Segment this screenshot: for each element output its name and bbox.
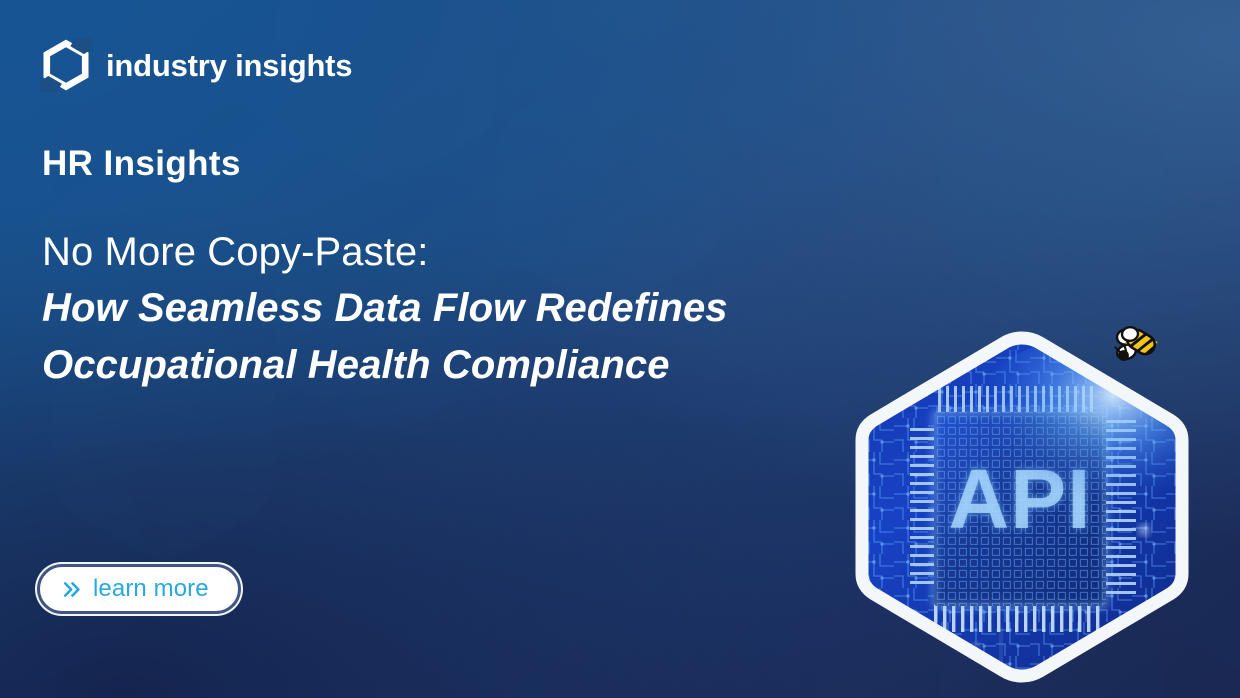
background-hexagon xyxy=(1163,0,1240,183)
headline-line-2: How Seamless Data Flow Redefines xyxy=(42,280,862,337)
background-hexagon xyxy=(941,67,1163,309)
headline-block: No More Copy-Paste: How Seamless Data Fl… xyxy=(42,231,862,394)
category-eyebrow: HR Insights xyxy=(42,145,241,184)
hero-hexagon-image: API API xyxy=(826,316,1218,698)
background-hexagon xyxy=(719,0,941,183)
banner-canvas: industry insights HR Insights No More Co… xyxy=(0,0,1240,698)
learn-more-label: learn more xyxy=(93,577,209,601)
brand-logo[interactable]: industry insights xyxy=(40,38,352,92)
background-hexagon xyxy=(497,0,719,59)
logo-wordmark: industry insights xyxy=(106,50,352,81)
double-chevron-right-icon xyxy=(63,580,82,599)
headline-line-1: No More Copy-Paste: xyxy=(42,231,862,274)
chip-photo: API API xyxy=(826,316,1218,698)
background-hexagon xyxy=(941,0,1163,59)
headline-line-3: Occupational Health Compliance xyxy=(42,337,862,394)
learn-more-button[interactable]: learn more xyxy=(40,567,238,611)
hexagon-outline-icon xyxy=(40,38,92,92)
bee-icon xyxy=(1110,318,1162,370)
